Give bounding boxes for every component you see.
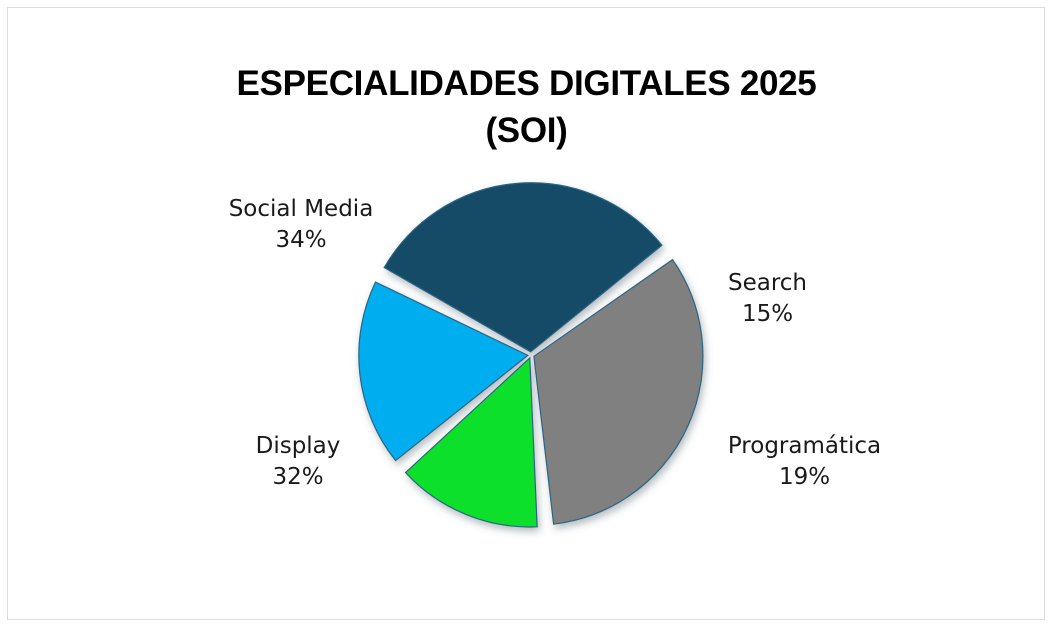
pie-slices-group (359, 183, 703, 527)
pie-svg (0, 0, 1053, 628)
pie-chart (0, 0, 1053, 628)
chart-canvas: ESPECIALIDADES DIGITALES 2025 (SOI) Soci… (0, 0, 1053, 628)
pie-label-programatica: Programática 19% (697, 431, 912, 493)
pie-label-display: Display 32% (218, 431, 378, 493)
pie-label-social-media: Social Media 34% (196, 194, 406, 256)
pie-label-search: Search 15% (700, 268, 835, 330)
